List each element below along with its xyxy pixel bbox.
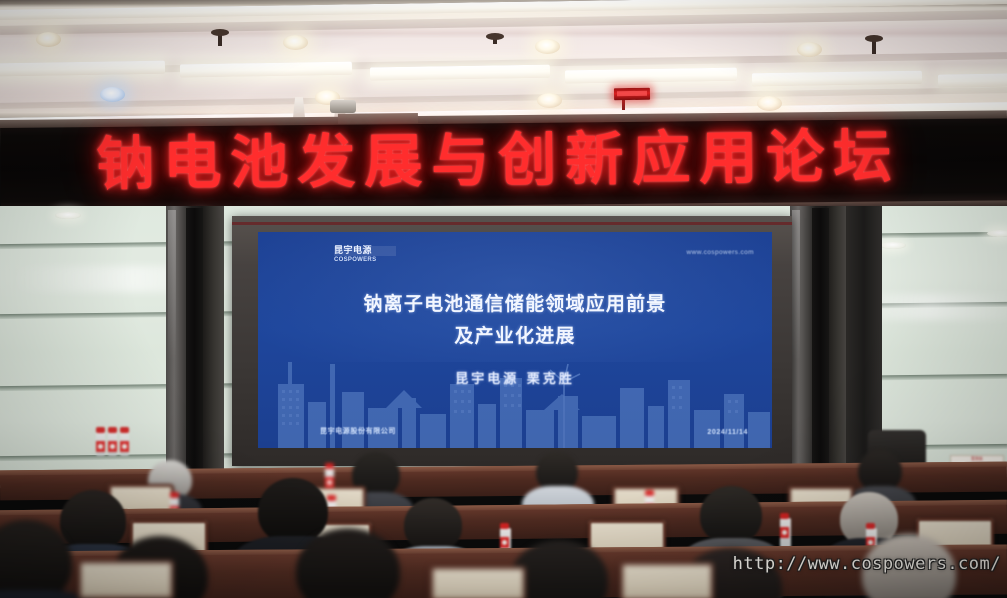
led-banner: 钠电池发展与创新应用论坛 [0,116,1007,212]
projector [330,100,356,113]
ceiling-light-strip [370,65,550,81]
audience-chair [78,560,174,598]
water-bottle [96,432,105,456]
downlight-icon [283,35,308,50]
ceiling-light-strip [565,68,737,84]
slide-logo-en: COSPOWERS [334,256,396,264]
water-bottle [120,432,129,456]
slide-title-line1: 钠离子电池通信储能领域应用前景 [258,288,772,320]
site-watermark: http://www.cospowers.com/ [733,554,1001,574]
sprinkler-icon [493,34,497,44]
ceiling-light-strip [0,61,165,77]
downlight-icon [535,39,560,54]
downlight-icon [537,93,562,108]
projection-screen-frame: 昆宇电源 COSPOWERS www.cospowers.com 钠离子电池通信… [232,216,792,466]
banner-mount-plate [338,113,418,124]
conference-photo: 钠电池发展与创新应用论坛 [0,0,1007,598]
screen-trim [232,222,792,225]
slide-company-footer: 昆宇电源股份有限公司 [320,426,396,436]
slide-title: 钠离子电池通信储能领域应用前景 及产业化进展 [258,288,772,352]
ceiling [0,0,1007,128]
water-bottle [108,432,117,456]
water-bottle [780,518,791,548]
slide-presenter: 昆宇电源 栗克胜 [258,368,772,387]
right-speaker-pillar [790,206,848,488]
presentation-slide: 昆宇电源 COSPOWERS www.cospowers.com 钠离子电池通信… [258,232,772,448]
downlight-icon [757,96,782,111]
slide-url: www.cospowers.com [687,249,754,256]
wall-downlight-icon [880,242,906,249]
wall-downlight-icon [55,212,81,219]
ceiling-light-strip [938,73,1007,87]
downlight-icon [100,87,125,102]
banner-text: 钠电池发展与创新应用论坛 [96,122,1007,197]
sprinkler-icon [218,30,222,46]
audience-chair [620,562,714,598]
downlight-icon [36,32,61,47]
exit-sign-icon [614,88,650,101]
wall-downlight-icon [987,230,1007,237]
audience-chair [430,566,526,598]
left-speaker-pillar [166,206,224,488]
slide-logo: 昆宇电源 COSPOWERS [334,246,396,266]
slide-logo-cn: 昆宇电源 [334,246,396,256]
downlight-icon [797,42,822,57]
sprinkler-icon [872,36,876,54]
slide-date-footer: 2024/11/14 [707,429,748,436]
water-bottle [325,468,334,488]
ceiling-light-strip [180,62,352,78]
ceiling-light-strip [752,71,922,87]
slide-title-line2: 及产业化进展 [258,320,772,352]
